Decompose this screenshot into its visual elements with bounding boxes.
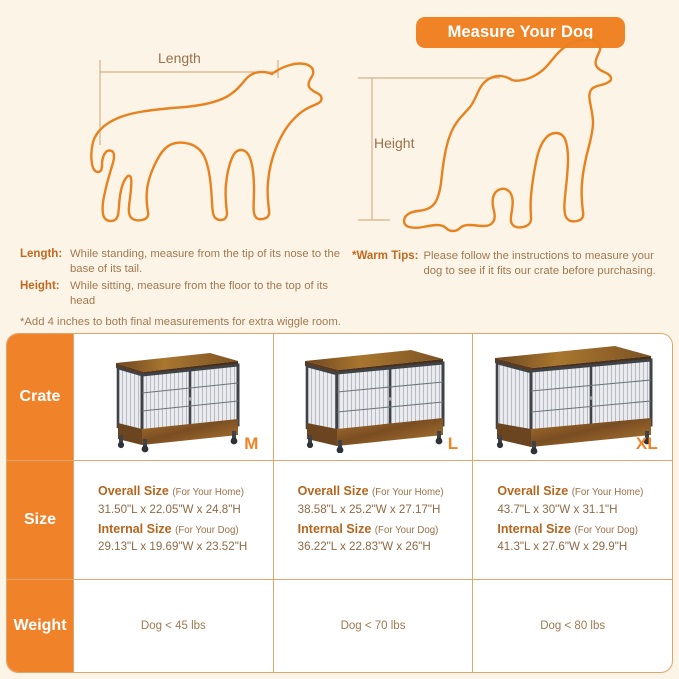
weight-cell-xl: Dog < 80 lbs — [473, 580, 672, 672]
length-label: Length — [158, 50, 201, 66]
legend-row-length: Length: While standing, measure from the… — [20, 247, 350, 277]
height-label: Height — [374, 135, 414, 151]
standing-dog-outline-icon — [91, 64, 321, 222]
internal-size-sub-l: (For Your Dog) — [375, 525, 439, 536]
internal-size-value-xl: 41.3"L x 27.6"W x 29.9"H — [497, 538, 666, 555]
overall-size-value-m: 31.50"L x 22.05"W x 24.8"H — [98, 501, 267, 518]
warm-tips-term: *Warm Tips: — [352, 249, 423, 264]
internal-size-label-l: Internal Size (For Your Dog) — [298, 520, 467, 538]
crate-cell-l: L — [274, 334, 474, 460]
size-cell-xl: Overall Size (For Your Home) 43.7"L x 30… — [473, 461, 672, 579]
length-bracket-icon — [100, 60, 278, 145]
table-row-size: Size Overall Size (For Your Home) 31.50"… — [7, 461, 672, 580]
table-row-crate: Crate — [7, 334, 672, 461]
internal-size-label-xl: Internal Size (For Your Dog) — [497, 520, 666, 538]
weight-value-l: Dog < 70 lbs — [341, 620, 406, 632]
overall-size-label-xl: Overall Size (For Your Home) — [497, 482, 666, 500]
overall-size-title-xl: Overall Size — [497, 484, 568, 498]
crate-cell-m: M — [74, 334, 274, 460]
weight-value-m: Dog < 45 lbs — [141, 620, 206, 632]
weight-cell-m: Dog < 45 lbs — [74, 580, 274, 672]
legend-term-length: Length: — [20, 247, 70, 262]
size-cell-l: Overall Size (For Your Home) 38.58"L x 2… — [274, 461, 474, 579]
crate-cell-xl: XL — [473, 334, 672, 460]
row-header-size: Size — [7, 461, 74, 579]
table-row-weight: Weight Dog < 45 lbs Dog < 70 lbs Dog < 8… — [7, 580, 672, 672]
legend-row-height: Height: While sitting, measure from the … — [20, 279, 350, 309]
legend-note: *Add 4 inches to both final measurements… — [20, 315, 350, 330]
internal-size-title-xl: Internal Size — [497, 522, 571, 536]
internal-size-title-l: Internal Size — [298, 522, 372, 536]
internal-size-label-m: Internal Size (For Your Dog) — [98, 520, 267, 538]
row-header-weight: Weight — [7, 580, 74, 672]
internal-size-sub-m: (For Your Dog) — [175, 525, 239, 536]
internal-size-title-m: Internal Size — [98, 522, 172, 536]
internal-size-value-l: 36.22"L x 22.83"W x 26"H — [298, 538, 467, 555]
legend-term-height: Height: — [20, 279, 70, 294]
sitting-dog-outline-icon — [404, 40, 611, 232]
overall-size-sub-m: (For Your Home) — [172, 487, 244, 498]
crate-size-table: Crate — [6, 333, 673, 673]
overall-size-sub-l: (For Your Home) — [372, 487, 444, 498]
overall-size-value-xl: 43.7"L x 30"W x 31.1"H — [497, 501, 666, 518]
overall-size-label-m: Overall Size (For Your Home) — [98, 482, 267, 500]
dog-crate-furniture-icon — [291, 341, 456, 453]
size-tag-xl: XL — [636, 434, 658, 454]
size-tag-m: M — [244, 434, 258, 454]
overall-size-label-l: Overall Size (For Your Home) — [298, 482, 467, 500]
legend-definition-length: While standing, measure from the tip of … — [70, 247, 350, 277]
warm-tips-text: Please follow the instructions to measur… — [423, 249, 670, 279]
infographic-root: Measure Your Dog — [0, 0, 679, 679]
overall-size-title-m: Overall Size — [98, 484, 169, 498]
overall-size-title-l: Overall Size — [298, 484, 369, 498]
internal-size-sub-xl: (For Your Dog) — [574, 525, 638, 536]
size-cell-m: Overall Size (For Your Home) 31.50"L x 2… — [74, 461, 274, 579]
weight-cell-l: Dog < 70 lbs — [274, 580, 474, 672]
size-tag-l: L — [448, 434, 459, 454]
internal-size-value-m: 29.13"L x 19.69"W x 23.52"H — [98, 538, 267, 555]
warm-tips-block: *Warm Tips: Please follow the instructio… — [352, 249, 670, 279]
legend-definition-height: While sitting, measure from the floor to… — [70, 279, 350, 309]
row-header-crate: Crate — [7, 334, 74, 460]
dog-crate-furniture-icon — [98, 341, 248, 453]
weight-value-xl: Dog < 80 lbs — [540, 620, 605, 632]
overall-size-value-l: 38.58"L x 25.2"W x 27.17"H — [298, 501, 467, 518]
legend-block: Length: While standing, measure from the… — [20, 247, 350, 330]
overall-size-sub-xl: (For Your Home) — [572, 487, 644, 498]
measurement-diagram: Length Height — [0, 0, 679, 245]
